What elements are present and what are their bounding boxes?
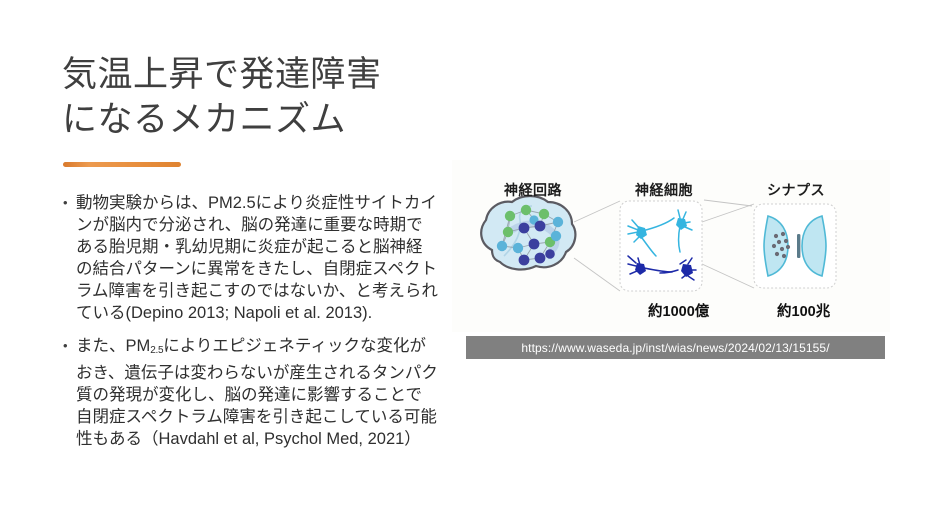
- bullet-list: • 動物実験からは、PM2.5により炎症性サイトカインが脳内で分泌され、脳の発達…: [60, 192, 438, 461]
- list-item: • また、PM2.5によりエピジェネティックな変化がおき、遺伝子は変わらないが産…: [60, 335, 438, 450]
- neuron-cell-panel-icon: [620, 201, 702, 291]
- bullet-2-prefix: また、PM: [76, 337, 150, 355]
- connector-brain-to-cell-icon: [574, 201, 620, 291]
- title-line-2: になるメカニズム: [62, 97, 442, 142]
- title-line-1: 気温上昇で発達障害: [62, 52, 442, 97]
- bullet-2-subscript: 2.5: [150, 345, 163, 356]
- figure-caption-circuit: 神経回路: [504, 180, 562, 200]
- slide-canvas: 気温上昇で発達障害 になるメカニズム • 動物実験からは、PM2.5により炎症性…: [0, 0, 940, 522]
- figure-count-synapse: 約100兆: [777, 300, 830, 321]
- figure-caption-synapse: シナプス: [767, 180, 825, 200]
- figure-caption-cell: 神経細胞: [635, 180, 693, 200]
- brain-circuit-icon: [481, 196, 575, 269]
- source-url-text: https://www.waseda.jp/inst/wias/news/202…: [521, 341, 829, 355]
- synapse-panel-icon: [754, 204, 836, 288]
- list-item: • 動物実験からは、PM2.5により炎症性サイトカインが脳内で分泌され、脳の発達…: [60, 192, 438, 324]
- bullet-text-2: また、PM2.5によりエピジェネティックな変化がおき、遺伝子は変わらないが産生さ…: [76, 335, 438, 450]
- page-title: 気温上昇で発達障害 になるメカニズム: [62, 52, 442, 142]
- connector-cell-to-synapse-icon: [702, 200, 754, 288]
- title-accent-rule: [63, 162, 181, 167]
- source-url-bar: https://www.waseda.jp/inst/wias/news/202…: [466, 336, 885, 359]
- bullet-text-1: 動物実験からは、PM2.5により炎症性サイトカインが脳内で分泌され、脳の発達に重…: [76, 192, 438, 324]
- figure-image: 神経回路 神経細胞 シナプス 約1000億 約100兆: [452, 160, 890, 332]
- figure-count-cell: 約1000億: [648, 300, 709, 321]
- bullet-marker-icon: •: [60, 335, 76, 357]
- bullet-marker-icon: •: [60, 192, 76, 214]
